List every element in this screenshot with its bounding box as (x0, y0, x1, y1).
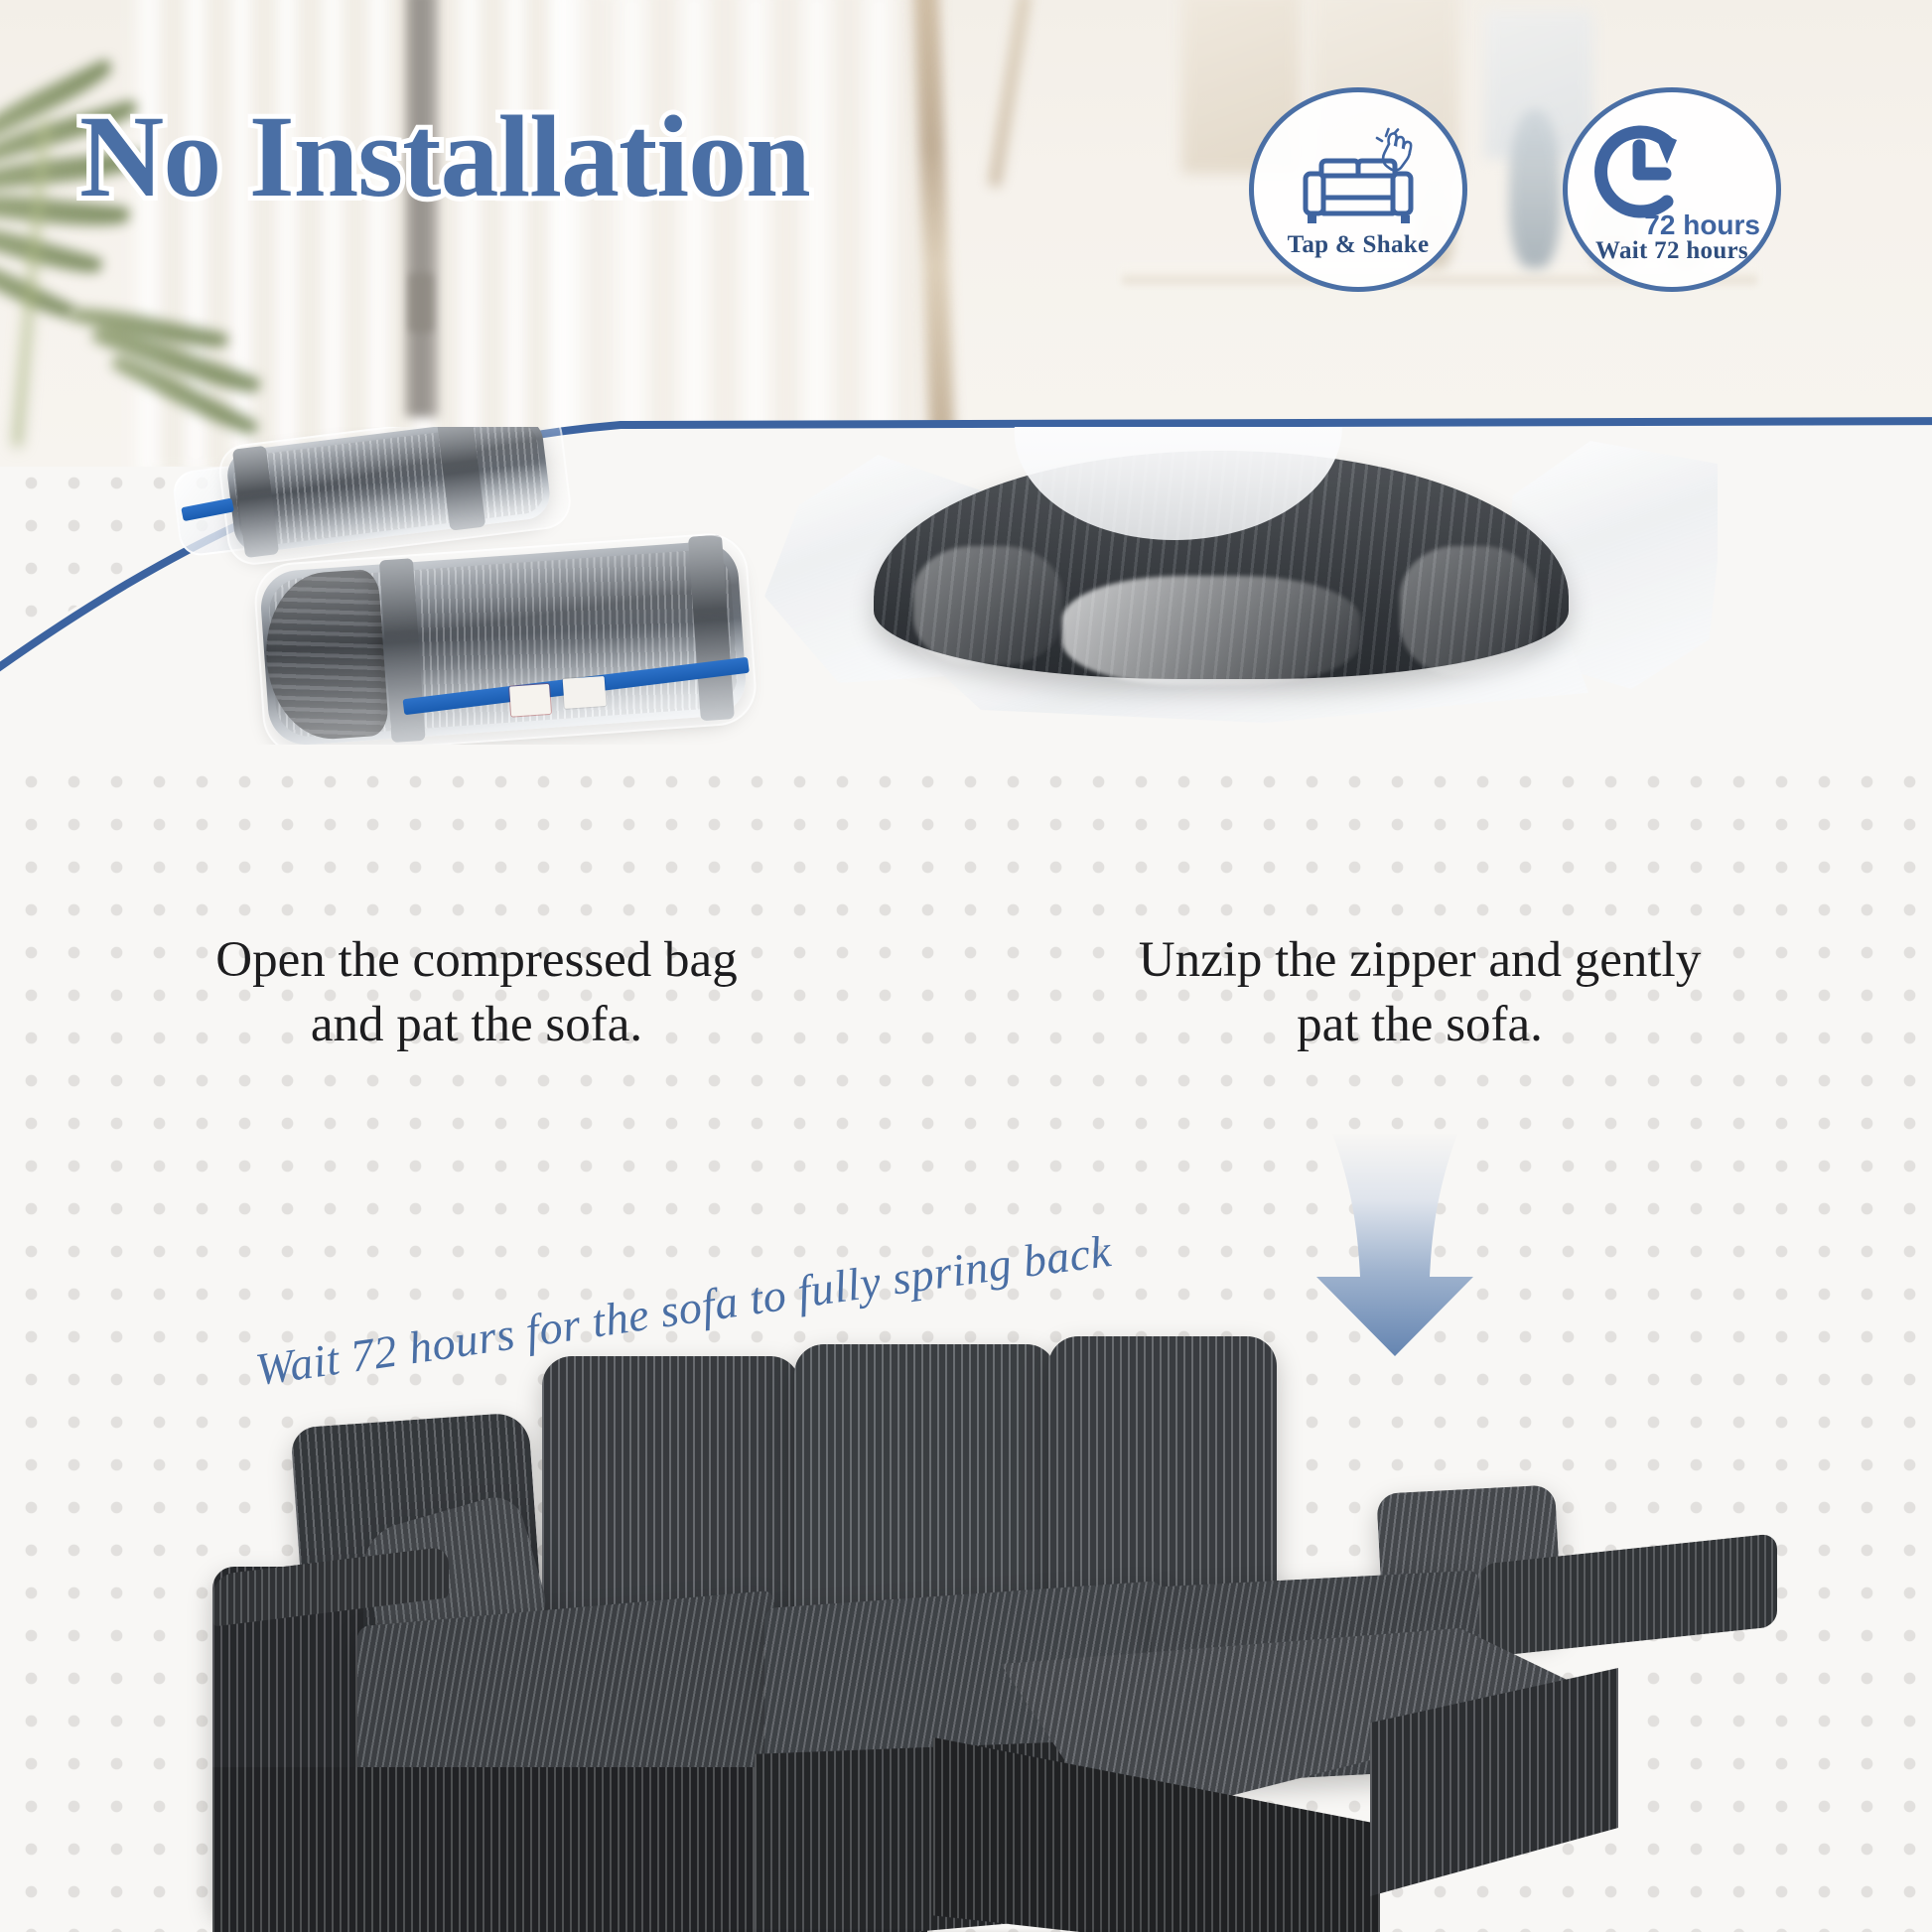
infographic-page: No Installation (0, 0, 1932, 1932)
plastic-highlight-1 (1062, 576, 1360, 685)
caption-step-1-line-2: and pat the sofa. (60, 993, 894, 1057)
package-label-fragile (509, 684, 551, 717)
curtain-secondary (556, 0, 933, 467)
sofa-back-cushion-right (1048, 1336, 1277, 1614)
package-label (563, 676, 607, 709)
image-sofa-in-plastic-bag (764, 427, 1718, 745)
plastic-highlight-3 (1400, 546, 1539, 675)
caption-step-2-line-1: Unzip the zipper and gently (983, 928, 1857, 993)
plastic-highlight-2 (913, 546, 1062, 665)
caption-step-2: Unzip the zipper and gently pat the sofa… (983, 928, 1857, 1058)
caption-step-2-line-2: pat the sofa. (983, 993, 1857, 1057)
page-title: No Installation (79, 95, 810, 218)
badge-label-tap-and-shake: Tap & Shake (1288, 231, 1430, 259)
badge-label-wait-72-hours: Wait 72 hours (1595, 237, 1748, 265)
compressed-roll-bottom (244, 528, 762, 745)
badge-inline-hours: 72 hours (1644, 209, 1760, 241)
badge-tap-and-shake[interactable]: Tap & Shake (1249, 87, 1467, 292)
caption-step-1: Open the compressed bag and pat the sofa… (60, 928, 894, 1058)
sofa-with-tapping-hand-icon (1291, 120, 1426, 231)
image-compressed-bags (169, 427, 764, 745)
vase-tall (1509, 109, 1561, 268)
sofa-back-cushion-mid-2 (794, 1344, 1056, 1628)
badge-wait-72-hours[interactable]: 72 hours Wait 72 hours (1563, 87, 1781, 292)
image-sofa-final (199, 1301, 1906, 1932)
window-handle (409, 273, 433, 333)
caption-step-1-line-1: Open the compressed bag (60, 928, 894, 993)
